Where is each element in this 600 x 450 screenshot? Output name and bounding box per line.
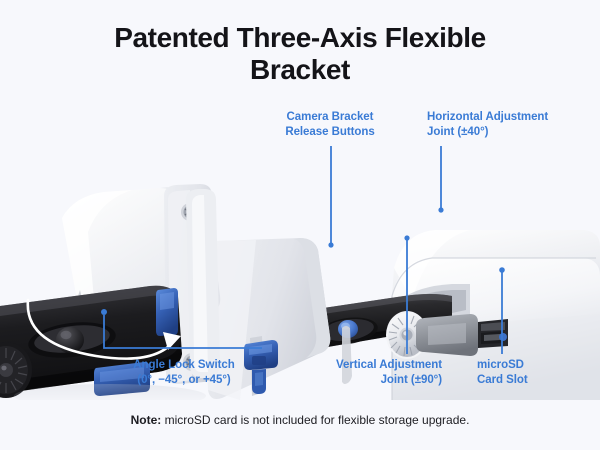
callout-microsd-card-slot: microSD Card Slot — [477, 358, 587, 388]
footer-note-label: Note: — [131, 413, 162, 427]
bracket-rail — [186, 189, 220, 378]
footer-note-text: microSD card is not included for flexibl… — [161, 413, 469, 427]
callout-angle-lock-switch: Angle Lock Switch (0°, −45°, or +45°) — [100, 358, 268, 388]
left-blue-accent[interactable] — [156, 288, 178, 336]
product-illustration-svg — [0, 100, 600, 400]
footer-note: Note: microSD card is not included for f… — [0, 412, 600, 429]
callout-camera-bracket-release-buttons: Camera Bracket Release Buttons — [264, 110, 396, 140]
callout-vertical-adjustment-joint: Vertical Adjustment Joint (±90°) — [296, 358, 442, 388]
callout-horizontal-adjustment-joint: Horizontal Adjustment Joint (±40°) — [427, 110, 592, 140]
product-feature-infographic: Patented Three-Axis Flexible Bracket — [0, 0, 600, 450]
product-illustration — [0, 100, 600, 400]
page-title: Patented Three-Axis Flexible Bracket — [0, 22, 600, 87]
